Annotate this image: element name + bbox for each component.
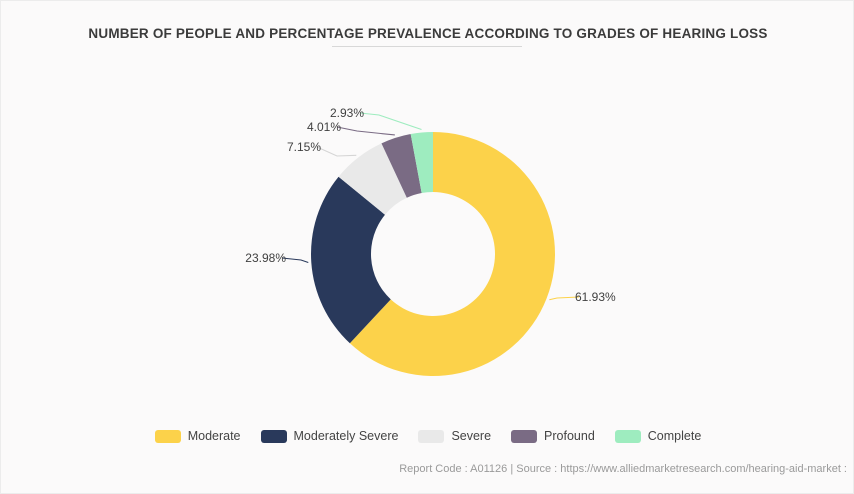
legend-item-moderately-severe[interactable]: Moderately Severe: [261, 429, 399, 443]
slice-value-label: 7.15%: [287, 140, 321, 154]
legend-item-profound[interactable]: Profound: [511, 429, 595, 443]
donut-slices: [311, 132, 555, 376]
legend-item-complete[interactable]: Complete: [615, 429, 702, 443]
legend-swatch-icon: [511, 430, 537, 443]
leader-line: [337, 127, 395, 135]
donut-chart: 61.93%23.98%7.15%4.01%2.93%: [1, 1, 854, 421]
legend-item-label: Moderate: [188, 429, 241, 443]
legend-item-severe[interactable]: Severe: [418, 429, 491, 443]
chart-card: NUMBER OF PEOPLE AND PERCENTAGE PREVALEN…: [0, 0, 854, 494]
legend-item-label: Moderately Severe: [294, 429, 399, 443]
slice-value-label: 2.93%: [330, 106, 364, 120]
chart-legend: ModerateModerately SevereSevereProfoundC…: [1, 429, 854, 443]
legend-swatch-icon: [261, 430, 287, 443]
slice-value-label: 23.98%: [245, 251, 286, 265]
legend-item-label: Severe: [451, 429, 491, 443]
legend-item-label: Profound: [544, 429, 595, 443]
footer-source-text: Report Code : A01126 | Source : https://…: [1, 463, 854, 475]
slice-value-label: 61.93%: [575, 290, 616, 304]
legend-item-label: Complete: [648, 429, 702, 443]
leader-line: [317, 147, 356, 156]
legend-swatch-icon: [418, 430, 444, 443]
legend-swatch-icon: [155, 430, 181, 443]
legend-swatch-icon: [615, 430, 641, 443]
donut-chart-svg: 61.93%23.98%7.15%4.01%2.93%: [1, 1, 854, 421]
leader-line: [360, 113, 422, 130]
slice-value-label: 4.01%: [307, 120, 341, 134]
legend-item-moderate[interactable]: Moderate: [155, 429, 241, 443]
